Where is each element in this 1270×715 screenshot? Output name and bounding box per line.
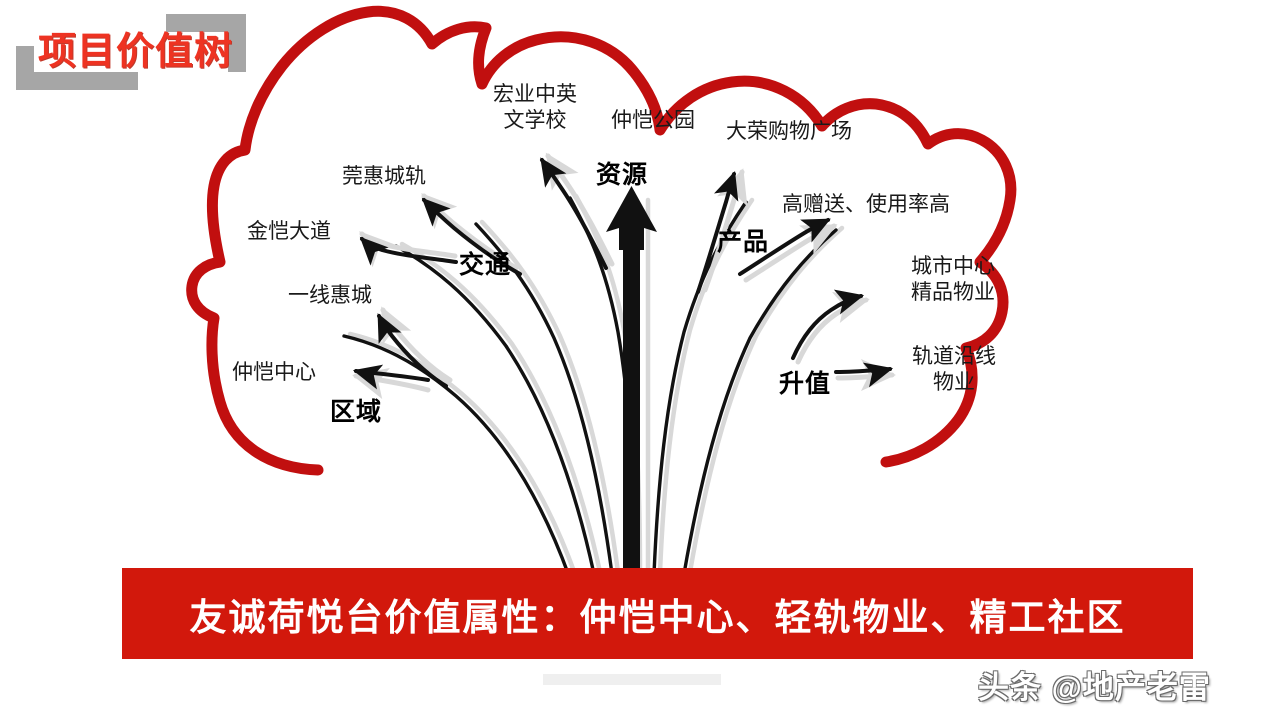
category-label-traffic: 交通 (459, 245, 511, 281)
page-title-block: 项目价值树 (16, 14, 246, 92)
leaf-label-high-gift: 高赠送、使用率高 (782, 192, 950, 218)
banner-underline-accent (543, 674, 721, 685)
category-label-district: 区域 (330, 392, 382, 428)
leaf-label-city-center: 城市中心 精品物业 (889, 254, 1017, 306)
watermark: 头条 @地产老雷 (978, 662, 1211, 707)
category-label-product: 产品 (717, 222, 769, 258)
leaf-label-guanhui-rail: 莞惠城轨 (342, 164, 426, 190)
slide-canvas: 项目价值树 宏业中英 文学校 仲恺公园 大荣购物广场 高赠送、使用率高 城市中心… (0, 0, 1270, 715)
leaf-label-rail-side: 轨道沿线 物业 (896, 344, 1012, 396)
banner-text: 友诚荷悦台价值属性：仲恺中心、轻轨物业、精工社区 (190, 587, 1126, 641)
value-attributes-banner: 友诚荷悦台价值属性：仲恺中心、轻轨物业、精工社区 (122, 568, 1193, 659)
leaf-label-zhongkai-center: 仲恺中心 (232, 360, 316, 386)
page-title: 项目价值树 (38, 30, 233, 74)
leaf-label-first-line: 一线惠城 (288, 283, 372, 309)
leaf-label-hongye-school: 宏业中英 文学校 (475, 82, 595, 134)
category-label-value: 升值 (779, 364, 831, 400)
leaf-label-zhongkai-park: 仲恺公园 (611, 108, 695, 134)
title-frame-shadow-bottom (16, 72, 138, 90)
category-label-resource: 资源 (596, 155, 648, 191)
leaf-label-darong-mall: 大荣购物广场 (726, 119, 852, 145)
leaf-label-jinkai-avenue: 金恺大道 (247, 219, 331, 245)
